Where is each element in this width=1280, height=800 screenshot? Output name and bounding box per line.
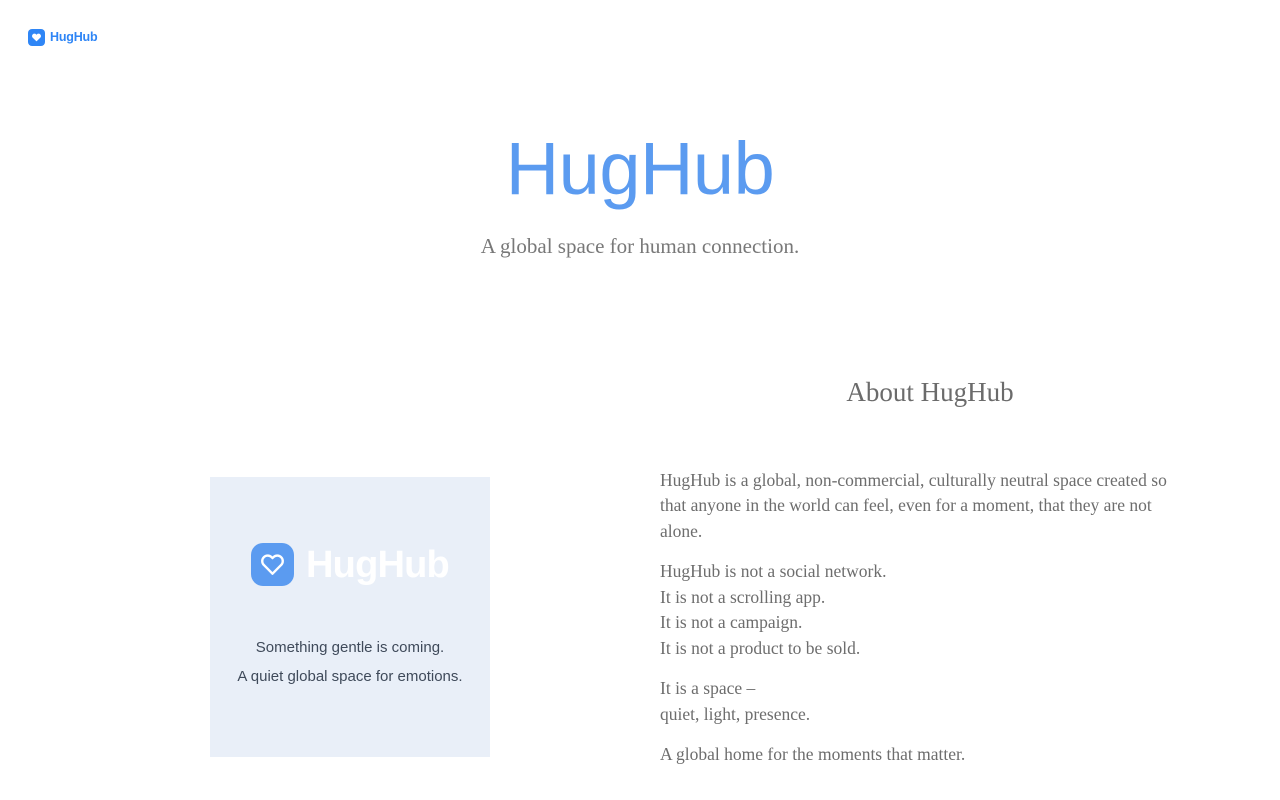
card-message-line: A quiet global space for emotions.	[237, 662, 462, 691]
page-title: HugHub	[0, 132, 1280, 206]
card-message-line: Something gentle is coming.	[237, 633, 462, 662]
card-wordmark: HugHub	[306, 546, 449, 584]
about-heading: About HugHub	[660, 376, 1200, 410]
brand-logo[interactable]: HugHub	[28, 29, 97, 46]
preview-card: HugHub Something gentle is coming. A qui…	[210, 477, 490, 757]
about-section: About HugHub HugHub is a global, non-com…	[660, 376, 1200, 768]
card-logo: HugHub	[251, 543, 449, 586]
heart-square-icon	[28, 29, 45, 46]
hero-section: HugHub A global space for human connecti…	[0, 132, 1280, 257]
card-message: Something gentle is coming. A quiet glob…	[237, 633, 462, 691]
about-body: HugHub is a global, non-commercial, cult…	[660, 468, 1197, 768]
hero-tagline: A global space for human connection.	[0, 236, 1280, 257]
heart-square-icon	[251, 543, 294, 586]
about-paragraph: It is a space –quiet, light, presence.	[660, 676, 1197, 727]
about-paragraph: HugHub is not a social network.It is not…	[660, 559, 1197, 661]
brand-name: HugHub	[50, 31, 97, 44]
about-paragraph: A global home for the moments that matte…	[660, 742, 1197, 768]
about-paragraph: HugHub is a global, non-commercial, cult…	[660, 468, 1197, 545]
